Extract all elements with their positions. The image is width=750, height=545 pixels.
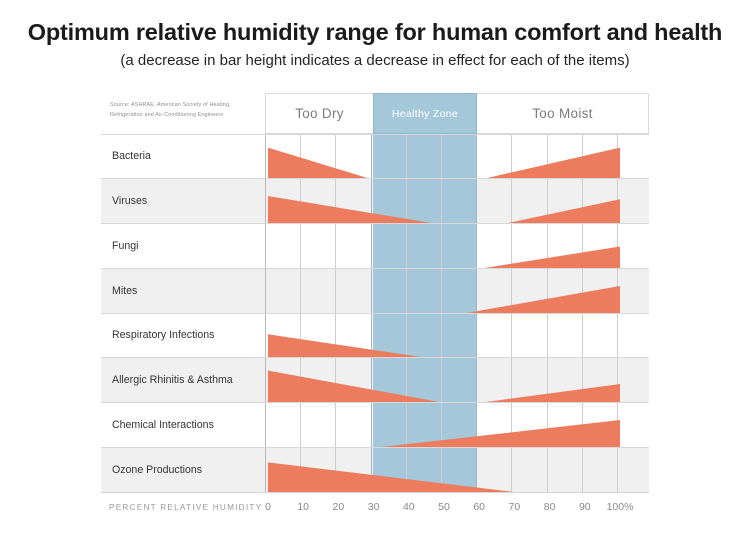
x-axis-tick: 60 (473, 501, 485, 513)
zone-label: Healthy Zone (392, 108, 458, 120)
label-divider (265, 269, 266, 313)
x-axis: PERCENT RELATIVE HUMIDITY 01020304050607… (101, 497, 649, 525)
label-divider (265, 179, 266, 223)
page-title: Optimum relative humidity range for huma… (0, 20, 750, 46)
row-label: Chemical Interactions (112, 403, 262, 447)
bar-wedge-right (479, 384, 620, 403)
chart-grid-area: Source: ASHRAE, American Society of Heat… (101, 93, 649, 493)
bar-wedge-right (462, 286, 620, 314)
zone-label: Too Moist (532, 106, 592, 121)
source-note: Source: ASHRAE, American Society of Heat… (110, 100, 262, 120)
bar-wedge-left (268, 148, 374, 179)
row-label: Mites (112, 269, 262, 313)
zone-header-too-moist: Too Moist (477, 93, 649, 134)
x-axis-tick: 10 (297, 501, 309, 513)
row-label: Respiratory Infections (112, 314, 262, 358)
chart-row: Chemical Interactions (101, 403, 649, 448)
humidity-chart: Source: ASHRAE, American Society of Heat… (101, 93, 649, 525)
bar-wedge-left (268, 371, 444, 403)
chart-row: Mites (101, 269, 649, 314)
bar-wedge-left (268, 196, 437, 224)
infographic-page: Optimum relative humidity range for huma… (0, 0, 750, 545)
x-axis-tick: 50 (438, 501, 450, 513)
chart-row: Viruses (101, 179, 649, 224)
label-divider (265, 224, 266, 268)
zone-header-healthy: Healthy Zone (373, 93, 477, 134)
x-axis-tick: 80 (544, 501, 556, 513)
label-divider (265, 448, 266, 492)
bar-wedge-right (374, 420, 620, 448)
label-divider (265, 403, 266, 447)
chart-row: Respiratory Infections (101, 314, 649, 359)
chart-row: Allergic Rhinitis & Asthma (101, 358, 649, 403)
x-axis-tick: 70 (509, 501, 521, 513)
zone-header-too-dry: Too Dry (265, 93, 373, 134)
row-label: Fungi (112, 224, 262, 268)
zone-label: Too Dry (295, 106, 344, 121)
label-divider (265, 135, 266, 178)
bar-wedge-right (479, 246, 620, 268)
page-subtitle: (a decrease in bar height indicates a de… (0, 53, 750, 70)
row-label: Viruses (112, 179, 262, 223)
row-label: Bacteria (112, 135, 262, 178)
chart-row: Fungi (101, 224, 649, 269)
bar-wedge-left (268, 334, 433, 359)
x-axis-tick: 40 (403, 501, 415, 513)
x-axis-tick: 20 (333, 501, 345, 513)
bar-wedge-right (479, 148, 620, 179)
chart-rows: BacteriaVirusesFungiMitesRespiratory Inf… (101, 134, 649, 493)
chart-row: Ozone Productions (101, 448, 649, 493)
row-label: Allergic Rhinitis & Asthma (112, 358, 262, 402)
bar-wedge-left (268, 462, 521, 493)
x-axis-tick: 0 (265, 501, 271, 513)
label-divider (265, 314, 266, 358)
x-axis-tick: 30 (368, 501, 380, 513)
chart-row: Bacteria (101, 134, 649, 179)
x-axis-tick: 90 (579, 501, 591, 513)
x-axis-title: PERCENT RELATIVE HUMIDITY (109, 503, 262, 512)
bar-wedge-right (504, 199, 620, 224)
x-axis-tick: 100% (607, 501, 634, 513)
heading-block: Optimum relative humidity range for huma… (0, 0, 750, 69)
label-divider (265, 358, 266, 402)
row-label: Ozone Productions (112, 448, 262, 492)
zone-header-row: Source: ASHRAE, American Society of Heat… (101, 93, 649, 134)
